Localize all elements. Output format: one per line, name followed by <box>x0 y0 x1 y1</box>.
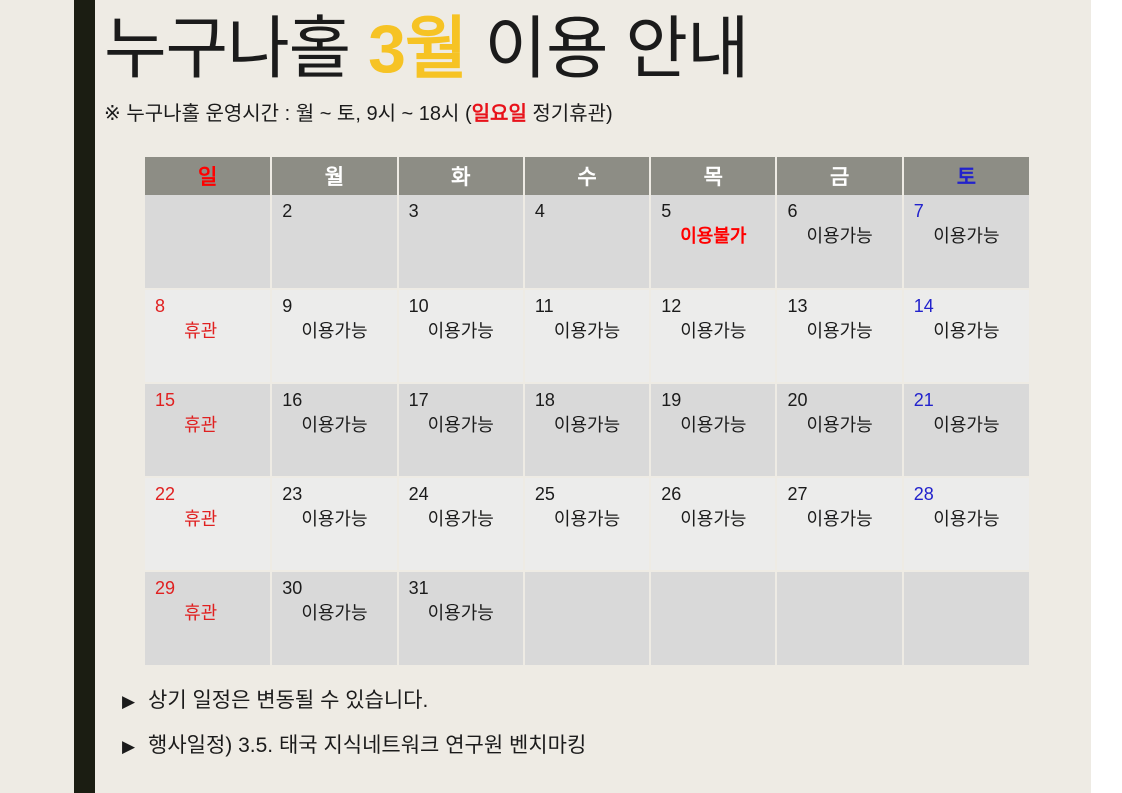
day-status-label: 이용가능 <box>409 508 513 530</box>
day-number: 21 <box>914 390 1019 410</box>
day-number: 11 <box>535 296 639 316</box>
weekday-header-1: 월 <box>271 157 397 195</box>
calendar-day-cell[interactable]: 30이용가능 <box>271 571 397 665</box>
day-status-label: 이용가능 <box>282 320 386 342</box>
calendar-day-cell[interactable]: 5이용불가 <box>650 195 776 289</box>
day-number: 14 <box>914 296 1019 316</box>
day-number: 2 <box>282 201 386 221</box>
calendar-day-cell[interactable]: 14이용가능 <box>903 289 1029 383</box>
day-number: 5 <box>661 201 765 221</box>
title-suffix: 이용 안내 <box>467 11 749 87</box>
day-status-label: 이용가능 <box>535 508 639 530</box>
day-number: 15 <box>155 390 260 410</box>
calendar-day-cell[interactable]: 24이용가능 <box>398 477 524 571</box>
day-number: 10 <box>409 296 513 316</box>
day-status-label: 이용가능 <box>282 414 386 436</box>
weekday-header-5: 금 <box>776 157 902 195</box>
day-status-label: 이용가능 <box>787 508 891 530</box>
calendar-week-row: 15휴관16이용가능17이용가능18이용가능19이용가능20이용가능21이용가능 <box>145 383 1029 477</box>
list-item: ▶ 상기 일정은 변동될 수 있습니다. <box>122 686 1022 717</box>
notes-list: ▶ 상기 일정은 변동될 수 있습니다. ▶ 행사일정) 3.5. 태국 지식네… <box>122 686 1022 776</box>
day-status-label: 이용가능 <box>535 320 639 342</box>
calendar-header-row: 일월화수목금토 <box>145 157 1029 195</box>
weekday-header-6: 토 <box>903 157 1029 195</box>
calendar-day-cell[interactable]: 22휴관 <box>145 477 271 571</box>
day-status-label: 이용가능 <box>282 508 386 530</box>
day-number: 23 <box>282 484 386 504</box>
weekday-header-0: 일 <box>145 157 271 195</box>
calendar-day-cell[interactable] <box>903 571 1029 665</box>
operating-hours-note: ※ 누구나홀 운영시간 : 월 ~ 토, 9시 ~ 18시 (일요일 정기휴관) <box>104 100 1064 128</box>
day-status-label: 이용가능 <box>535 414 639 436</box>
subtitle-highlight-sunday: 일요일 <box>472 103 527 125</box>
calendar-week-row: 8휴관9이용가능10이용가능11이용가능12이용가능13이용가능14이용가능 <box>145 289 1029 383</box>
calendar-day-cell[interactable]: 10이용가능 <box>398 289 524 383</box>
day-number: 16 <box>282 390 386 410</box>
calendar-day-cell[interactable]: 2 <box>271 195 397 289</box>
weekday-header-2: 화 <box>398 157 524 195</box>
calendar-day-cell[interactable]: 15휴관 <box>145 383 271 477</box>
weekday-header-4: 목 <box>650 157 776 195</box>
day-number: 26 <box>661 484 765 504</box>
day-status-label: 이용가능 <box>409 414 513 436</box>
calendar-day-cell[interactable] <box>650 571 776 665</box>
day-status-label: 휴관 <box>155 320 260 342</box>
subtitle-prefix: ※ 누구나홀 운영시간 : 월 ~ 토, 9시 ~ 18시 ( <box>104 103 472 125</box>
calendar-day-cell[interactable]: 13이용가능 <box>776 289 902 383</box>
calendar-day-cell[interactable]: 12이용가능 <box>650 289 776 383</box>
title-prefix: 누구나홀 <box>104 11 368 87</box>
day-status-label: 이용가능 <box>914 320 1019 342</box>
day-status-label: 이용가능 <box>661 320 765 342</box>
calendar-day-cell[interactable] <box>145 195 271 289</box>
day-status-label: 휴관 <box>155 508 260 530</box>
day-number: 30 <box>282 578 386 598</box>
day-number: 8 <box>155 296 260 316</box>
title-month: 3월 <box>368 11 466 87</box>
calendar-day-cell[interactable]: 19이용가능 <box>650 383 776 477</box>
day-status-label: 이용가능 <box>914 414 1019 436</box>
day-number: 31 <box>409 578 513 598</box>
day-number: 17 <box>409 390 513 410</box>
slide-canvas: 누구나홀 3월 이용 안내 ※ 누구나홀 운영시간 : 월 ~ 토, 9시 ~ … <box>0 0 1122 793</box>
calendar-body: 2345이용불가6이용가능7이용가능8휴관9이용가능10이용가능11이용가능12… <box>145 195 1029 665</box>
subtitle-suffix: 정기휴관) <box>527 103 613 125</box>
day-status-label: 휴관 <box>155 602 260 624</box>
calendar-day-cell[interactable] <box>524 571 650 665</box>
calendar-day-cell[interactable]: 7이용가능 <box>903 195 1029 289</box>
calendar-day-cell[interactable]: 27이용가능 <box>776 477 902 571</box>
day-status-label: 이용불가 <box>661 225 765 247</box>
calendar-day-cell[interactable]: 4 <box>524 195 650 289</box>
day-number: 29 <box>155 578 260 598</box>
day-status-label: 이용가능 <box>282 602 386 624</box>
calendar-day-cell[interactable]: 8휴관 <box>145 289 271 383</box>
day-number: 19 <box>661 390 765 410</box>
weekday-header-3: 수 <box>524 157 650 195</box>
calendar-day-cell[interactable]: 25이용가능 <box>524 477 650 571</box>
calendar-week-row: 22휴관23이용가능24이용가능25이용가능26이용가능27이용가능28이용가능 <box>145 477 1029 571</box>
calendar-day-cell[interactable] <box>776 571 902 665</box>
day-status-label: 이용가능 <box>409 320 513 342</box>
day-status-label: 이용가능 <box>409 602 513 624</box>
calendar-week-row: 29휴관30이용가능31이용가능 <box>145 571 1029 665</box>
day-number: 4 <box>535 201 639 221</box>
calendar-day-cell[interactable]: 6이용가능 <box>776 195 902 289</box>
calendar-day-cell[interactable]: 3 <box>398 195 524 289</box>
calendar-day-cell[interactable]: 31이용가능 <box>398 571 524 665</box>
march-calendar-table: 일월화수목금토 2345이용불가6이용가능7이용가능8휴관9이용가능10이용가능… <box>145 157 1029 665</box>
day-status-label: 이용가능 <box>661 414 765 436</box>
day-status-label: 이용가능 <box>661 508 765 530</box>
slide-header: 누구나홀 3월 이용 안내 ※ 누구나홀 운영시간 : 월 ~ 토, 9시 ~ … <box>104 6 1064 128</box>
day-number: 3 <box>409 201 513 221</box>
calendar-week-row: 2345이용불가6이용가능7이용가능 <box>145 195 1029 289</box>
day-number: 22 <box>155 484 260 504</box>
day-status-label: 이용가능 <box>914 508 1019 530</box>
day-number: 13 <box>787 296 891 316</box>
left-accent-bar <box>74 0 95 793</box>
day-status-label: 이용가능 <box>787 414 891 436</box>
triangle-bullet-icon: ▶ <box>122 687 148 717</box>
day-number: 7 <box>914 201 1019 221</box>
day-status-label: 이용가능 <box>787 320 891 342</box>
note-text: 행사일정) 3.5. 태국 지식네트워크 연구원 벤치마킹 <box>148 731 586 761</box>
day-number: 20 <box>787 390 891 410</box>
day-number: 24 <box>409 484 513 504</box>
calendar-day-cell[interactable]: 23이용가능 <box>271 477 397 571</box>
day-status-label: 이용가능 <box>787 225 891 247</box>
page-title: 누구나홀 3월 이용 안내 <box>104 6 1064 92</box>
day-number: 28 <box>914 484 1019 504</box>
calendar-day-cell[interactable]: 21이용가능 <box>903 383 1029 477</box>
day-number: 9 <box>282 296 386 316</box>
triangle-bullet-icon: ▶ <box>122 732 148 762</box>
day-number: 12 <box>661 296 765 316</box>
calendar-day-cell[interactable]: 26이용가능 <box>650 477 776 571</box>
day-number: 27 <box>787 484 891 504</box>
calendar-day-cell[interactable]: 18이용가능 <box>524 383 650 477</box>
calendar-day-cell[interactable]: 16이용가능 <box>271 383 397 477</box>
note-text: 상기 일정은 변동될 수 있습니다. <box>148 686 428 716</box>
day-number: 25 <box>535 484 639 504</box>
day-number: 18 <box>535 390 639 410</box>
day-number: 6 <box>787 201 891 221</box>
calendar-day-cell[interactable]: 9이용가능 <box>271 289 397 383</box>
calendar-day-cell[interactable]: 28이용가능 <box>903 477 1029 571</box>
calendar-day-cell[interactable]: 11이용가능 <box>524 289 650 383</box>
calendar-day-cell[interactable]: 20이용가능 <box>776 383 902 477</box>
day-status-label: 휴관 <box>155 414 260 436</box>
calendar-day-cell[interactable]: 17이용가능 <box>398 383 524 477</box>
list-item: ▶ 행사일정) 3.5. 태국 지식네트워크 연구원 벤치마킹 <box>122 731 1022 762</box>
day-status-label: 이용가능 <box>914 225 1019 247</box>
calendar-day-cell[interactable]: 29휴관 <box>145 571 271 665</box>
